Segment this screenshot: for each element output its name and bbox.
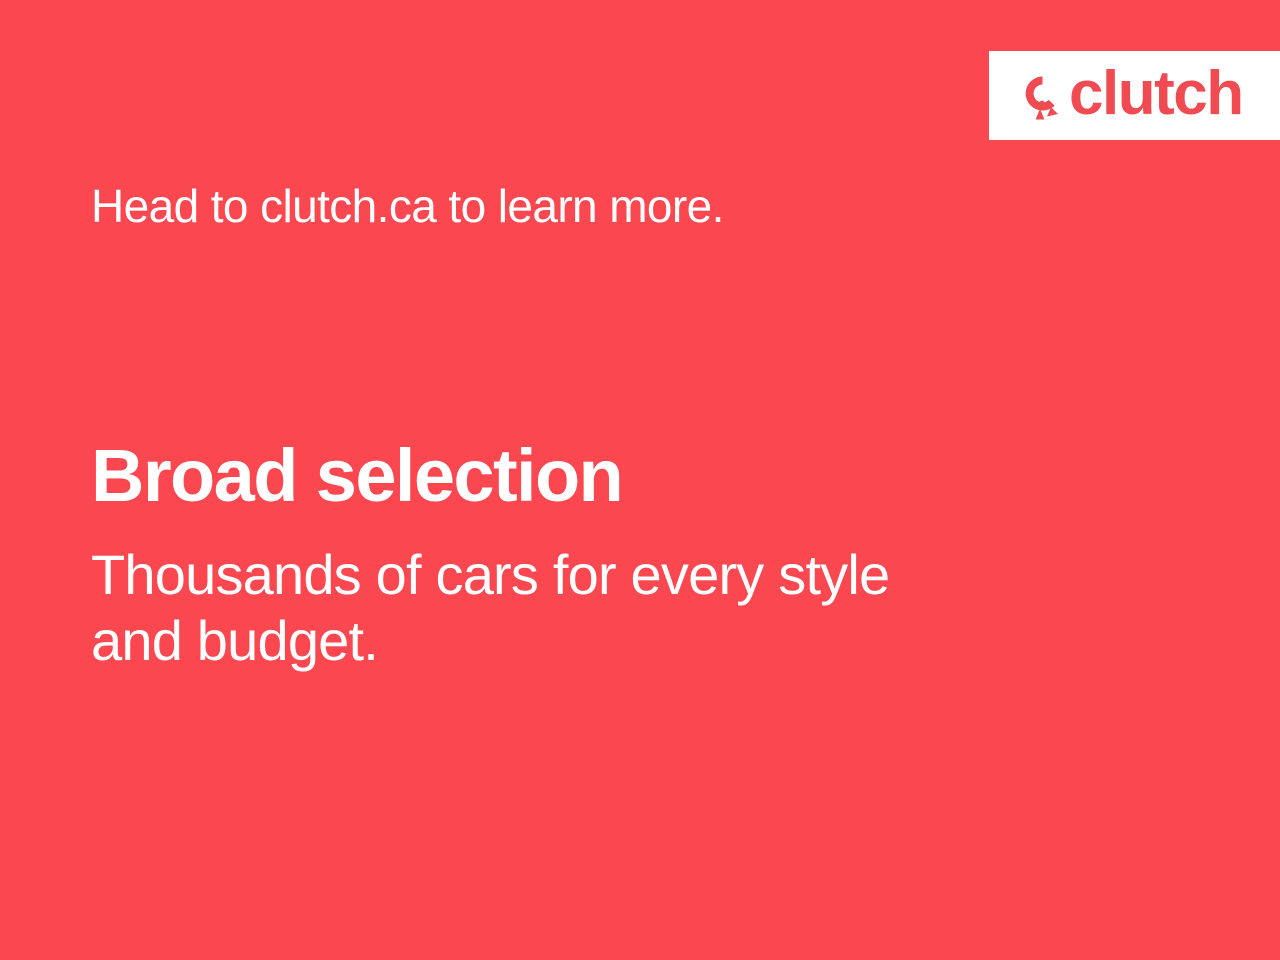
page-title: Broad selection xyxy=(91,434,622,518)
clutch-c-mark-icon xyxy=(1019,70,1067,122)
brand-logo-lockup: clutch xyxy=(1019,65,1243,127)
brand-logo-plate: clutch xyxy=(989,51,1280,140)
promo-slide: clutch Head to clutch.ca to learn more. … xyxy=(0,0,1280,960)
brand-wordmark: clutch xyxy=(1069,63,1243,125)
subheading: Thousands of cars for every style and bu… xyxy=(91,542,1051,674)
kicker-text: Head to clutch.ca to learn more. xyxy=(91,178,724,234)
subheading-line-1: Thousands of cars for every style xyxy=(91,542,1051,608)
subheading-line-2: and budget. xyxy=(91,608,1051,674)
